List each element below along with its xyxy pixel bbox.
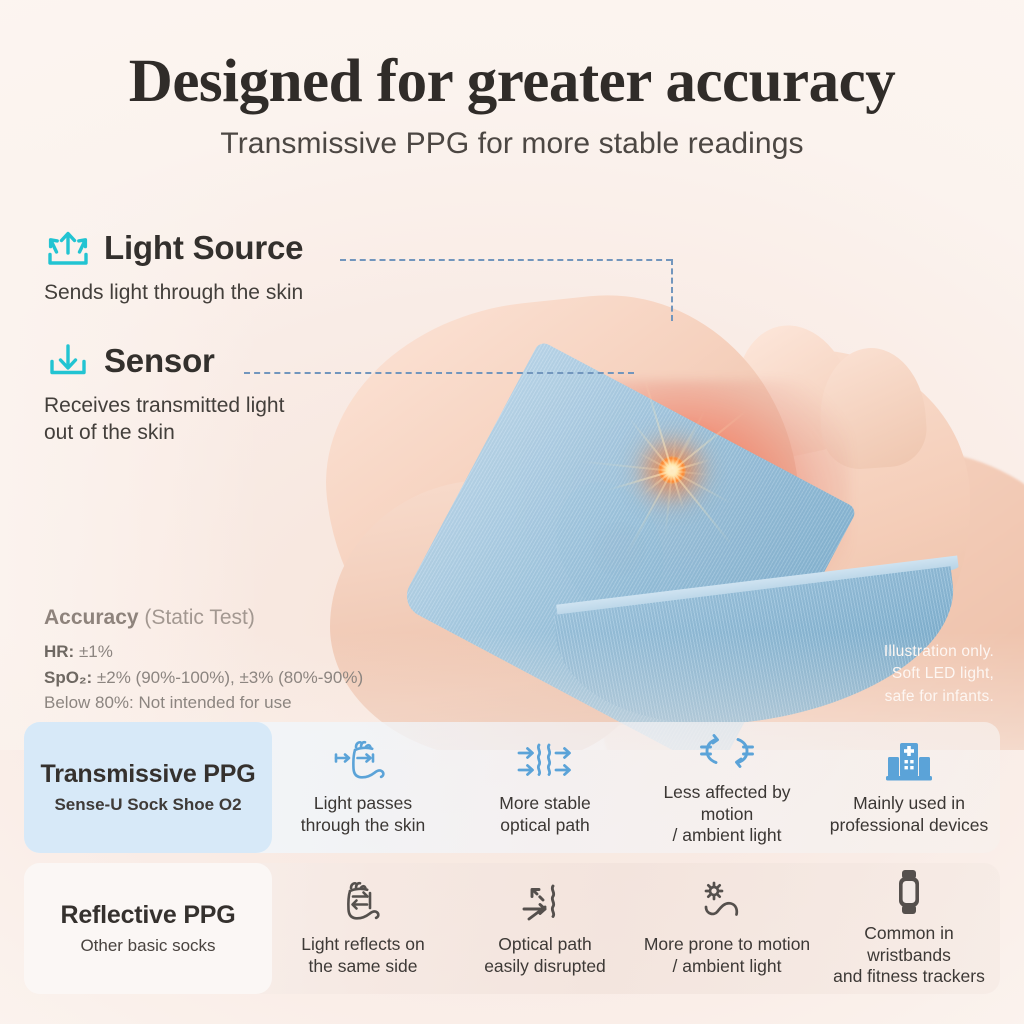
cell-light-passes-text: Light passes through the skin — [301, 793, 426, 836]
cell-text-line2: / ambient light — [673, 825, 782, 845]
header: Designed for greater accuracy Transmissi… — [0, 0, 1024, 161]
callout-light-source-desc: Sends light through the skin — [44, 279, 303, 306]
cell-stable-path-text: More stable optical path — [499, 793, 590, 836]
cell-motion-resistant-text: Less affected by motion / ambient light — [640, 782, 814, 847]
row-label-transmissive-main: Transmissive PPG — [41, 760, 256, 789]
cell-text-line2: optical path — [500, 815, 590, 835]
row-label-reflective: Reflective PPG Other basic socks — [24, 863, 272, 994]
row-label-reflective-sub: Other basic socks — [80, 936, 215, 956]
accuracy-block: Accuracy (Static Test) HR: ±1% SpO₂: ±2%… — [44, 606, 363, 716]
motion-resistant-icon — [699, 728, 755, 774]
infographic-page: Designed for greater accuracy Transmissi… — [0, 0, 1024, 1024]
callout-sensor-head: Sensor — [44, 341, 284, 381]
accuracy-hr-label: HR: — [44, 642, 74, 661]
accuracy-hr-line: HR: ±1% — [44, 639, 363, 665]
callout-sensor-title: Sensor — [104, 342, 215, 380]
cell-professional-devices: Mainly used in professional devices — [818, 722, 1000, 853]
hospital-icon — [884, 739, 934, 785]
accuracy-spo2-value: ±2% (90%-100%), ±3% (80%-90%) — [97, 668, 363, 687]
cell-text-line1: More prone to motion — [644, 934, 810, 954]
cell-light-passes: Light passes through the skin — [272, 722, 454, 853]
cell-text-line2: easily disrupted — [484, 956, 606, 976]
callout-sensor-desc-line2: out of the skin — [44, 421, 175, 444]
accuracy-hr-value: ±1% — [79, 642, 113, 661]
cell-text-line1: Mainly used in — [853, 793, 965, 813]
cell-stable-path: More stable optical path — [454, 722, 636, 853]
cell-text-line2: through the skin — [301, 815, 426, 835]
comparison-table: Transmissive PPG Sense-U Sock Shoe O2 — [24, 722, 1000, 1004]
table-row-reflective: Reflective PPG Other basic socks — [24, 863, 1000, 994]
page-title: Designed for greater accuracy — [0, 50, 1024, 114]
disclaimer-line-3: safe for infants. — [885, 688, 994, 705]
callout-sensor-desc: Receives transmitted light out of the sk… — [44, 392, 284, 447]
disclaimer-line-1: Illustration only. — [884, 643, 994, 660]
callout-sensor-desc-line1: Receives transmitted light — [44, 394, 284, 417]
cell-wristbands: Common in wristbands and fitness tracker… — [818, 863, 1000, 994]
foot-light-reflect-icon — [334, 880, 392, 926]
callout-light-source: Light Source Sends light through the ski… — [44, 228, 303, 306]
cell-disrupted-path: Optical path easily disrupted — [454, 863, 636, 994]
foot-light-through-icon — [332, 739, 394, 785]
accuracy-heading-rest: (Static Test) — [144, 606, 254, 629]
row-cells-transmissive: Light passes through the skin — [272, 722, 1000, 853]
cell-light-reflects-text: Light reflects on the same side — [301, 934, 425, 977]
accuracy-heading-bold: Accuracy — [44, 606, 139, 629]
cell-text-line2: the same side — [309, 956, 418, 976]
accuracy-spo2-label: SpO₂: — [44, 668, 92, 687]
sensor-icon — [44, 341, 90, 381]
leader-line-light-source-drop — [671, 259, 673, 321]
cell-prone-motion: More prone to motion / ambient light — [636, 863, 818, 994]
cell-text-line1: Common in wristbands — [864, 923, 953, 965]
cell-text-line2: / ambient light — [673, 956, 782, 976]
row-label-transmissive: Transmissive PPG Sense-U Sock Shoe O2 — [24, 722, 272, 853]
disclaimer-line-2: Soft LED light, — [892, 665, 994, 682]
illustration-disclaimer: Illustration only. Soft LED light, safe … — [884, 641, 994, 708]
cell-text-line1: Less affected by motion — [663, 782, 790, 824]
cell-text-line1: Light passes — [314, 793, 412, 813]
leader-line-light-source — [340, 259, 672, 261]
cell-light-reflects: Light reflects on the same side — [272, 863, 454, 994]
cell-text-line1: Optical path — [498, 934, 591, 954]
leader-line-sensor — [244, 372, 634, 374]
cell-prone-motion-text: More prone to motion / ambient light — [644, 934, 810, 977]
callout-light-source-head: Light Source — [44, 228, 303, 268]
light-source-icon — [44, 228, 90, 268]
accuracy-below-note: Below 80%: Not intended for use — [44, 690, 363, 716]
cell-text-line2: and fitness trackers — [833, 966, 985, 986]
stable-optical-path-icon — [515, 739, 575, 785]
disrupted-optical-path-icon — [519, 880, 571, 926]
accuracy-spo2-line: SpO₂: ±2% (90%-100%), ±3% (80%-90%) — [44, 665, 363, 691]
smartwatch-icon — [894, 869, 924, 915]
cell-motion-resistant: Less affected by motion / ambient light — [636, 722, 818, 853]
row-label-transmissive-sub: Sense-U Sock Shoe O2 — [54, 795, 241, 815]
cell-professional-devices-text: Mainly used in professional devices — [830, 793, 989, 836]
accuracy-heading: Accuracy (Static Test) — [44, 606, 363, 630]
cell-text-line1: More stable — [499, 793, 590, 813]
cell-wristbands-text: Common in wristbands and fitness tracker… — [822, 923, 996, 988]
table-row-transmissive: Transmissive PPG Sense-U Sock Shoe O2 — [24, 722, 1000, 853]
row-label-reflective-main: Reflective PPG — [60, 901, 235, 930]
cell-text-line1: Light reflects on — [301, 934, 425, 954]
row-cells-reflective: Light reflects on the same side — [272, 863, 1000, 994]
sun-motion-icon — [698, 880, 756, 926]
cell-text-line2: professional devices — [830, 815, 989, 835]
callout-light-source-title: Light Source — [104, 229, 303, 267]
callout-sensor: Sensor Receives transmitted light out of… — [44, 341, 284, 447]
cell-disrupted-path-text: Optical path easily disrupted — [484, 934, 606, 977]
